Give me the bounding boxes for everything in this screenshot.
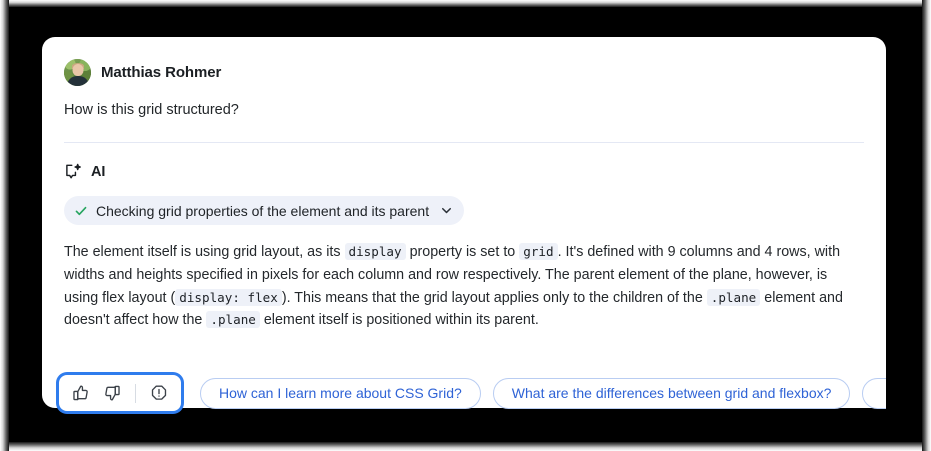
chevron-down-icon[interactable] xyxy=(437,204,453,217)
inline-code: display xyxy=(345,243,406,260)
ai-answer-text: The element itself is using grid layout,… xyxy=(64,241,864,332)
report-button[interactable] xyxy=(148,382,170,404)
feedback-divider xyxy=(135,384,136,403)
inline-code: .plane xyxy=(206,311,260,328)
suggestion-chip-1[interactable]: How can I learn more about CSS Grid? xyxy=(200,378,481,409)
ai-message-block: AI Checking grid properties of the eleme… xyxy=(42,143,886,332)
inline-code: .plane xyxy=(707,289,761,306)
status-badge-label: Checking grid properties of the element … xyxy=(96,203,429,219)
thumbs-down-icon xyxy=(103,384,121,402)
chat-card: Matthias Rohmer How is this grid structu… xyxy=(42,37,886,408)
suggestion-chip-2[interactable]: What are the differences between grid an… xyxy=(493,378,851,409)
check-icon xyxy=(74,204,88,218)
thumbs-up-button[interactable] xyxy=(70,382,92,404)
user-message-text: How is this grid structured? xyxy=(64,100,864,120)
feedback-button-group xyxy=(59,375,181,411)
thumbs-up-icon xyxy=(72,384,90,402)
inline-code: grid xyxy=(519,243,557,260)
ai-message-header: AI xyxy=(64,162,864,182)
backdrop-edge-right xyxy=(922,0,931,451)
suggestion-chip-list: How can I learn more about CSS Grid? Wha… xyxy=(200,378,886,409)
thumbs-down-button[interactable] xyxy=(101,382,123,404)
ai-sparkle-icon xyxy=(64,163,82,181)
backdrop-edge-bottom xyxy=(0,442,931,451)
backdrop-edge-top xyxy=(0,0,931,7)
action-row: How can I learn more about CSS Grid? Wha… xyxy=(42,367,886,419)
status-badge[interactable]: Checking grid properties of the element … xyxy=(64,196,464,225)
user-message-block: Matthias Rohmer How is this grid structu… xyxy=(42,37,886,120)
suggestion-chip-3[interactable] xyxy=(862,378,886,409)
user-display-name: Matthias Rohmer xyxy=(101,64,221,81)
ai-label: AI xyxy=(91,164,105,180)
user-avatar-photo xyxy=(64,59,91,86)
report-alert-octagon-icon xyxy=(150,384,168,402)
avatar-head xyxy=(72,64,83,76)
backdrop-edge-left xyxy=(0,0,9,451)
user-message-header: Matthias Rohmer xyxy=(64,58,864,86)
inline-code: display: flex xyxy=(175,289,282,306)
